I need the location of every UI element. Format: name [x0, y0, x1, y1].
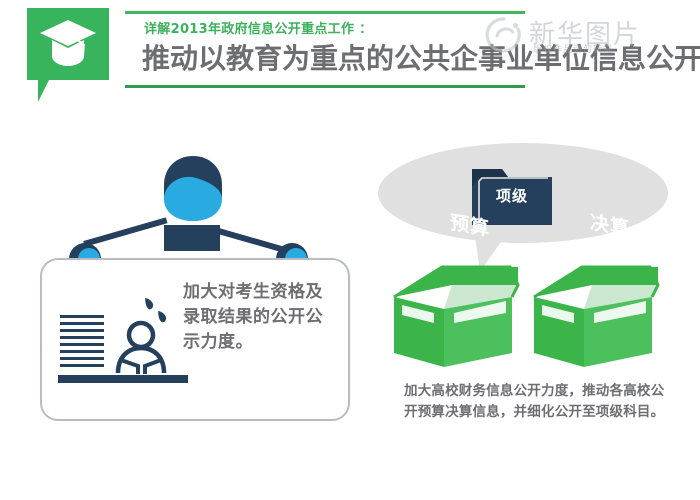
right-panel: 项级: [378, 143, 688, 443]
box-label-final-accounts: 决算: [590, 207, 630, 241]
budget-boxes-icon: [382, 261, 672, 371]
header-subtitle: 详解2013年政府信息公开重点工作 ：: [144, 18, 372, 37]
open-box-1: [394, 267, 518, 367]
header-rule-bottom: [125, 85, 525, 88]
person-body: [164, 225, 220, 251]
logo-badge-tail: [38, 80, 49, 102]
sweat-drops-icon: [141, 293, 177, 329]
sign-text: 加大对考生资格及录取结果的公开公示力度。: [183, 280, 333, 355]
right-caption: 加大高校财务信息公开力度，推动各高校公开预算决算信息，并细化公开至项级科目。: [404, 381, 674, 423]
person-head-icon: [162, 155, 224, 223]
folder-label: 项级: [481, 185, 543, 206]
header-rule-top: [125, 11, 525, 14]
graduation-cap-icon: [38, 18, 98, 70]
page-title: 推动以教育为重点的公共企事业单位信息公开: [142, 37, 700, 77]
left-panel: 加大对考生资格及录取结果的公开公示力度。: [40, 145, 370, 435]
infographic-canvas: 详解2013年政府信息公开重点工作 ： 推动以教育为重点的公共企事业单位信息公开…: [0, 0, 700, 500]
header: 详解2013年政府信息公开重点工作 ： 推动以教育为重点的公共企事业单位信息公开…: [0, 0, 700, 110]
open-box-2: [534, 267, 658, 367]
person-arm-left: [83, 217, 167, 246]
